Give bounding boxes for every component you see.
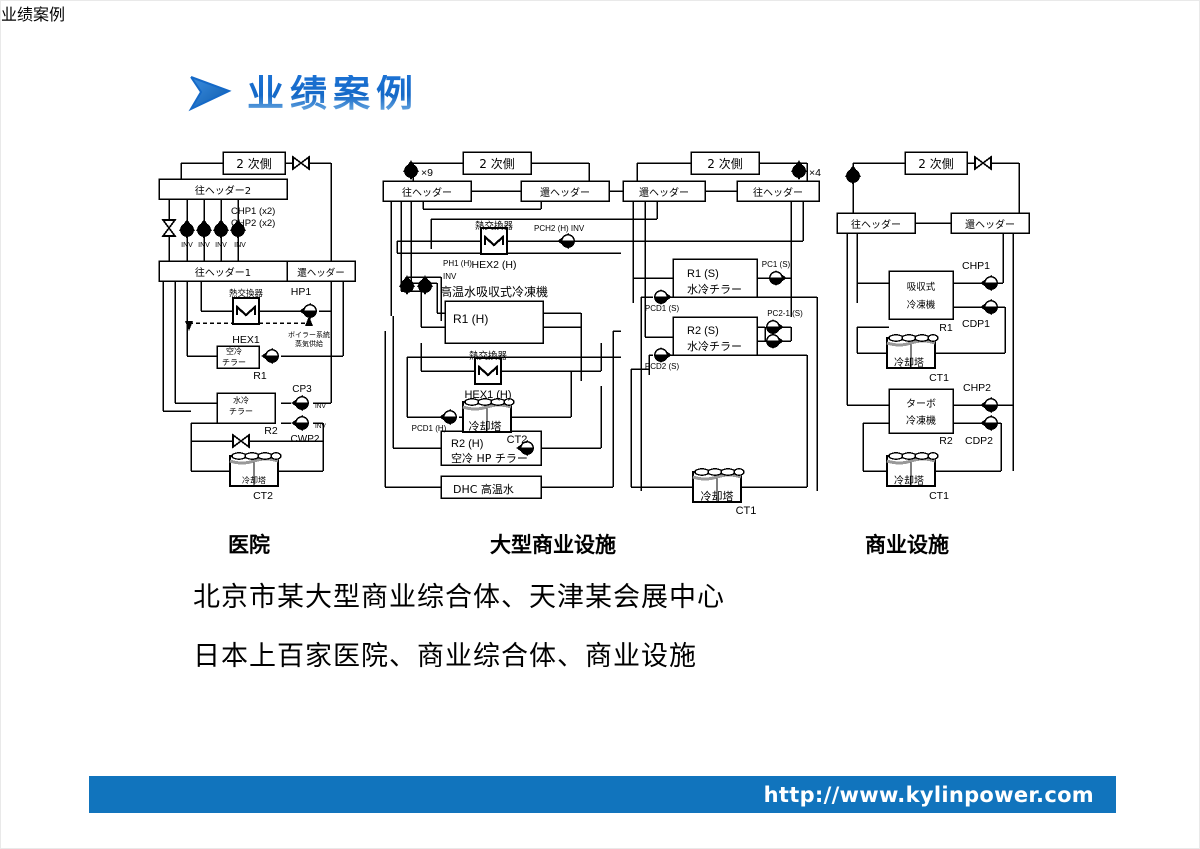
d2-r1h: R1 (H) [453,312,488,326]
d1-secondary-side: 2 次側 [236,157,271,171]
d2-high-temp-absorption: 高温水吸収式冷凍機 [440,284,548,299]
d2-hex2: HEX2 (H) [472,259,517,271]
system-diagrams: 2 次側 往ヘッダー2 CHP1 (x2) CHP2 (x2) INV INV … [1,131,1200,531]
d3-cooling-tower-2: 冷却塔 [894,474,924,487]
d2-cooling-tower-ct1: 冷却塔 [701,490,734,503]
d2-r1s: R1 (S) [687,268,719,280]
d2-ct1: CT1 [736,505,757,517]
d1-heat-exchanger: 熱交換器 [229,288,264,299]
d1-inv-2: INV [198,242,210,249]
d1-inv-6: INV [315,423,327,430]
d2-hex1h: HEX1 (H) [464,389,511,401]
d2-dhc: DHC 高温水 [453,482,514,496]
d3-secondary-side: 2 次側 [918,157,953,171]
page-title: 业绩案例 [187,73,419,113]
d2-heat-exchanger-mid: 熱交換器 [469,350,508,362]
d2-heat-exchanger-top: 熱交換器 [475,220,514,232]
d1-r1: R1 [253,370,267,382]
d2-water-cooled-2: 水冷チラー [687,340,742,353]
d3-cdp2: CDP2 [965,435,993,447]
diagram-commercial-labels: 2 次側 往ヘッダー 還ヘッダー CHP1 吸収式 冷凍機 R1 CDP1 冷却… [851,157,1015,502]
d2-ct2: CT2 [507,434,528,446]
caption-commercial: 商业设施 [865,529,949,559]
diagram-commercial [837,152,1029,486]
d3-turbo-2: 冷凍機 [906,414,936,427]
d2-supply-header-right: 往ヘッダー [753,186,803,199]
page-title-reflection: 业绩案例 [1,1,1199,25]
d2-pump-x4: ×4 [809,167,821,179]
d1-hex1: HEX1 [232,334,260,346]
d2-water-cooled-1: 水冷チラー [687,283,742,296]
d1-air-cooled-1: 空冷 [226,346,242,356]
d2-inv: INV [443,272,457,281]
d3-turbo-1: ターボ [906,398,936,410]
d1-chp1: CHP1 (x2) [231,206,275,217]
caption-large-commercial: 大型商业设施 [490,529,616,559]
d1-chp2: CHP2 (x2) [231,218,275,229]
d3-r1: R1 [939,322,953,334]
d1-inv-5: INV [315,403,327,410]
d2-pcd1s: PCD1 (S) [645,304,680,313]
d1-inv-4: INV [234,242,246,249]
d2-air-cooled-hp: 空冷 HP チラー [451,451,528,465]
diagram-hospital [159,152,355,486]
d3-supply-header: 往ヘッダー [851,218,901,231]
d2-pump-x9: ×9 [421,167,433,179]
d1-inv-3: INV [215,242,227,249]
d1-boiler-note-1: ボイラー系統 [288,330,330,339]
d1-water-cooled-1: 水冷 [233,395,249,405]
d1-cooling-tower: 冷却塔 [242,475,266,485]
d1-hp1: HP1 [291,286,312,298]
d2-return-header-left: 還ヘッダー [540,186,590,199]
d2-return-header-right: 還ヘッダー [639,186,689,199]
d2-pch2: PCH2 (H) INV [534,224,585,233]
d3-absorption-1: 吸収式 [907,281,936,293]
caption-hospital: 医院 [228,529,270,559]
d2-cooling-tower-ct2: 冷却塔 [469,420,502,433]
d3-chp2: CHP2 [963,382,991,394]
d1-inv-1: INV [181,242,193,249]
diagram-hospital-labels: 2 次側 往ヘッダー2 CHP1 (x2) CHP2 (x2) INV INV … [181,157,345,502]
page-title-text: 业绩案例 [247,75,419,112]
d2-r2h: R2 (H) [451,438,483,450]
d1-supply-header-1: 往ヘッダー1 [195,266,251,279]
footer-bar: http://www.kylinpower.com [89,776,1116,813]
d1-cwp2: CWP2 [291,434,320,445]
diagram-large-commercial [383,152,819,502]
body-text-line-1: 北京市某大型商业综合体、天津某会展中心 [193,575,725,614]
d3-ct1-top: CT1 [929,372,949,384]
d2-pcd2s: PCD2 (S) [645,362,680,371]
d2-secondary-side-right: 2 次側 [707,157,742,171]
d1-supply-header-2: 往ヘッダー2 [195,184,251,197]
d2-r2s: R2 (S) [687,325,719,337]
d1-air-cooled-2: チラー [222,358,246,367]
d2-pcd1h: PCD1 (H) [412,424,447,433]
d2-pc2-1s: PC2-1 (S) [767,309,803,318]
d3-ct1-bottom: CT1 [929,490,949,502]
d3-absorption-2: 冷凍機 [907,299,936,311]
d3-return-header: 還ヘッダー [965,218,1015,231]
d3-cdp1: CDP1 [962,318,990,330]
d2-ph1: PH1 (H) [443,259,472,268]
d1-cp3: CP3 [292,384,312,395]
d2-pc1s: PC1 (S) [762,260,791,269]
d1-r2: R2 [264,425,278,437]
d3-chp1: CHP1 [962,260,990,272]
d1-ct2: CT2 [253,490,273,502]
d3-r2: R2 [939,435,953,447]
d1-water-cooled-2: チラー [229,407,253,416]
d2-supply-header-left: 往ヘッダー [402,186,452,199]
d3-cooling-tower-1: 冷却塔 [894,356,924,369]
d1-boiler-note-2: 蒸気供給 [295,339,323,348]
d2-secondary-side-left: 2 次側 [479,157,514,171]
body-text-line-2: 日本上百家医院、商业综合体、商业设施 [193,634,697,673]
footer-url[interactable]: http://www.kylinpower.com [764,783,1094,807]
arrow-bullet-icon [187,73,233,113]
d1-return-header: 還ヘッダー [297,267,345,279]
